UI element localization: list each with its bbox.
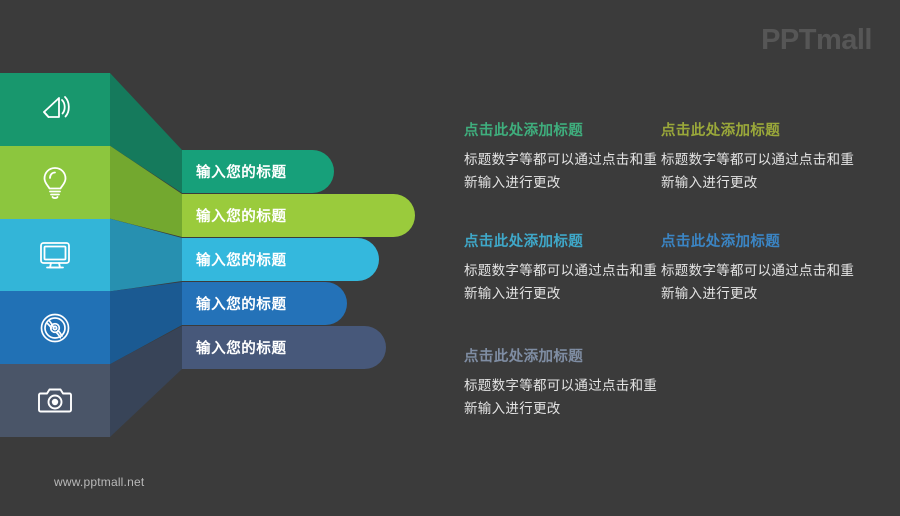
camera-icon xyxy=(34,380,76,422)
text-block-2: 点击此处添加标题 标题数字等都可以通过点击和重新输入进行更改 xyxy=(661,124,861,194)
text-block-title-5: 点击此处添加标题 xyxy=(464,350,664,365)
speaker-icon xyxy=(35,89,75,129)
text-block-5: 点击此处添加标题 标题数字等都可以通过点击和重新输入进行更改 xyxy=(464,350,664,420)
text-block-title-4: 点击此处添加标题 xyxy=(661,235,861,250)
text-block-1: 点击此处添加标题 标题数字等都可以通过点击和重新输入进行更改 xyxy=(464,124,664,194)
icon-tile-lightbulb[interactable] xyxy=(0,146,110,219)
pill-bar-5[interactable]: 输入您的标题 xyxy=(182,326,386,369)
monitor-icon xyxy=(34,234,76,276)
pill-bar-4[interactable]: 输入您的标题 xyxy=(182,282,347,325)
icon-tile-disc[interactable] xyxy=(0,291,110,364)
text-block-title-1: 点击此处添加标题 xyxy=(464,124,664,139)
icon-tile-monitor[interactable] xyxy=(0,219,110,292)
slide-canvas: PPTmall xyxy=(0,0,900,516)
connector-wedge-3 xyxy=(110,219,182,292)
text-block-title-3: 点击此处添加标题 xyxy=(464,235,664,250)
lightbulb-icon xyxy=(35,162,75,202)
text-block-body-3: 标题数字等都可以通过点击和重新输入进行更改 xyxy=(464,259,664,305)
disc-icon xyxy=(34,307,76,349)
pill-bar-1[interactable]: 输入您的标题 xyxy=(182,150,334,193)
icon-tile-speaker[interactable] xyxy=(0,73,110,146)
icon-tile-camera[interactable] xyxy=(0,364,110,437)
text-block-4: 点击此处添加标题 标题数字等都可以通过点击和重新输入进行更改 xyxy=(661,235,861,305)
text-block-title-2: 点击此处添加标题 xyxy=(661,124,861,139)
connector-wedge-5 xyxy=(110,326,182,437)
icon-column xyxy=(0,73,110,437)
text-block-body-2: 标题数字等都可以通过点击和重新输入进行更改 xyxy=(661,148,861,194)
pill-bar-2[interactable]: 输入您的标题 xyxy=(182,194,415,237)
connector-wedge-1 xyxy=(110,73,182,193)
connector-wedge-4 xyxy=(110,282,182,364)
pill-label-5: 输入您的标题 xyxy=(196,337,287,358)
text-block-body-5: 标题数字等都可以通过点击和重新输入进行更改 xyxy=(464,374,664,420)
text-block-3: 点击此处添加标题 标题数字等都可以通过点击和重新输入进行更改 xyxy=(464,235,664,305)
pill-label-3: 输入您的标题 xyxy=(196,249,287,270)
text-block-body-4: 标题数字等都可以通过点击和重新输入进行更改 xyxy=(661,259,861,305)
pill-label-4: 输入您的标题 xyxy=(196,293,287,314)
footer-url: www.pptmall.net xyxy=(54,475,144,489)
connector-wedge-2 xyxy=(110,146,182,237)
pill-label-1: 输入您的标题 xyxy=(196,161,287,182)
pill-label-2: 输入您的标题 xyxy=(196,205,287,226)
pill-bar-3[interactable]: 输入您的标题 xyxy=(182,238,379,281)
text-block-body-1: 标题数字等都可以通过点击和重新输入进行更改 xyxy=(464,148,664,194)
pptmall-logo: PPTmall xyxy=(761,26,872,55)
